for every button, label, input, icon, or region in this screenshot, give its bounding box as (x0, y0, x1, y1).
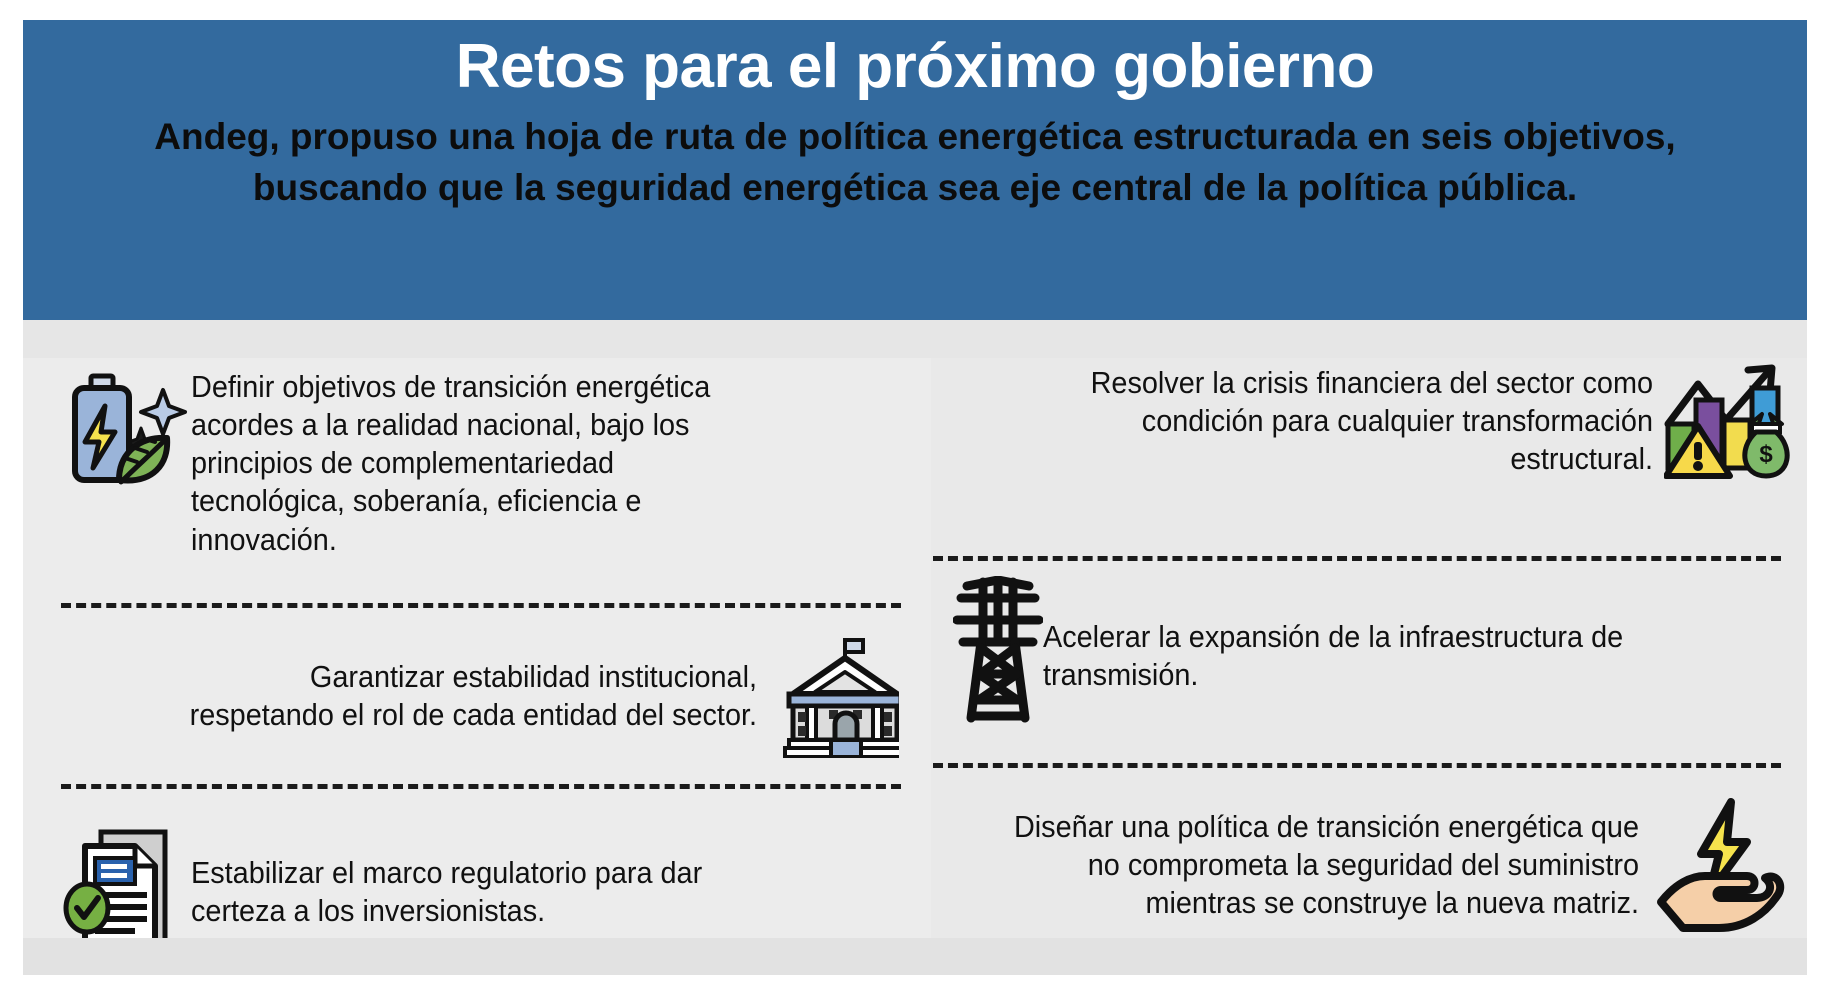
bottom-strip (23, 938, 1807, 975)
infographic-root: Retos para el próximo gobierno Andeg, pr… (0, 0, 1832, 995)
list-item-label: Garantizar estabilidad institucional, re… (180, 636, 757, 734)
left-column: Definir objetivos de transición energéti… (23, 358, 931, 938)
list-item-label: Acelerar la expansión de la infraestruct… (1043, 576, 1657, 694)
financial-crisis-chart-icon: $ (1663, 358, 1793, 482)
list-item[interactable]: Diseñar una política de transición energ… (811, 798, 1791, 934)
list-item-label: Diseñar una política de transición energ… (988, 798, 1639, 922)
divider (933, 556, 1781, 561)
list-item[interactable]: Acelerar la expansión de la infraestruct… (823, 576, 1763, 724)
document-check-icon (61, 828, 191, 954)
divider (61, 784, 901, 789)
page-subtitle: Andeg, propuso una hoja de ruta de polít… (83, 111, 1747, 213)
content-columns: Definir objetivos de transición energéti… (23, 358, 1807, 938)
list-item[interactable]: Definir objetivos de transición energéti… (61, 364, 901, 559)
svg-text:$: $ (1759, 441, 1773, 468)
list-item-label: Resolver la crisis financiera del sector… (1058, 358, 1653, 478)
content-panel: Definir objetivos de transición energéti… (23, 320, 1807, 975)
list-item[interactable]: Estabilizar el marco regulatorio para da… (61, 828, 901, 954)
divider (933, 763, 1781, 768)
header-banner: Retos para el próximo gobierno Andeg, pr… (23, 20, 1807, 320)
page-title: Retos para el próximo gobierno (456, 34, 1375, 101)
list-item-label: Definir objetivos de transición energéti… (191, 364, 768, 559)
divider (61, 603, 901, 608)
list-item[interactable]: Garantizar estabilidad institucional, re… (61, 636, 901, 758)
right-column: Resolver la crisis financiera del sector… (931, 358, 1807, 938)
battery-leaf-sparkle-icon (61, 364, 191, 488)
list-item[interactable]: Resolver la crisis financiera del sector… (943, 358, 1793, 482)
list-item-label: Estabilizar el marco regulatorio para da… (191, 828, 768, 930)
transmission-tower-icon (823, 576, 1043, 724)
hand-bolt-icon (1651, 798, 1791, 934)
